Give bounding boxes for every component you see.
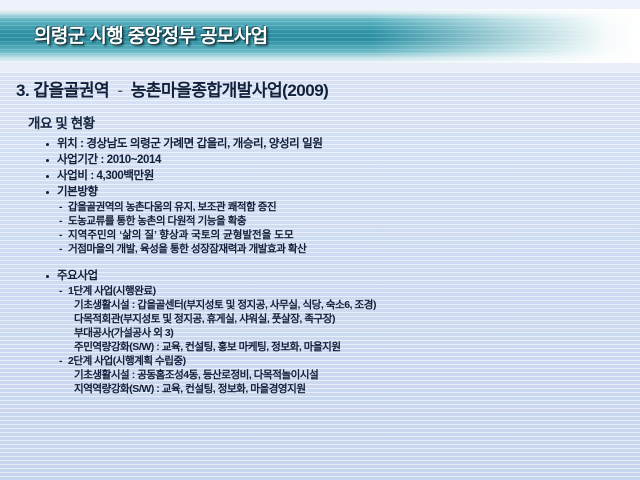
banner-title: 의령군 시행 중앙정부 공모사업 [34,21,267,48]
presentation-slide: 의령군 시행 중앙정부 공모사업 3. 갑을골권역 - 농촌마을종합개발사업(2… [0,0,640,480]
bullet-budget: 사업비 : 4,300백만원 [44,168,624,184]
phase1-item-4: 주민역량강화(S/W) : 교육, 컨설팅, 홍보 마케팅, 정보화, 마을지원 [44,340,624,354]
bullet-period: 사업기간 : 2010~2014 [44,152,624,168]
slide-banner: 의령군 시행 중앙정부 공모사업 [0,0,640,72]
section-dash: - [113,81,126,100]
direction-item-3: 지역주민의 ‘삶의 질’ 향상과 국토의 균형발전을 도모 [44,228,624,242]
phase1-item-3: 부대공사(가설공사 외 3) [44,326,624,340]
bullet-main-projects: 주요사업 [44,268,624,284]
section-title-left: 갑을골권역 [33,81,109,100]
slide-body: 위치 : 경상남도 의령군 가례면 갑을리, 개승리, 양성리 일원 사업기간 … [44,136,624,396]
page-title: 3. 갑을골권역 - 농촌마을종합개발사업(2009) [16,76,328,101]
bullet-location: 위치 : 경상남도 의령군 가례면 갑을리, 개승리, 양성리 일원 [44,136,624,152]
subsection-title: 개요 및 현황 [28,112,95,132]
section-number: 3. [16,81,29,100]
direction-item-1: 갑을골권역의 농촌다움의 유지, 보조관 쾌적함 증진 [44,200,624,214]
section-title-right: 농촌마을종합개발사업(2009) [131,81,329,100]
bullet-basic-direction: 기본방향 [44,184,624,200]
phase1-item-2: 다목적회관(부지성토 및 정지공, 휴게실, 샤워실, 풋살장, 족구장) [44,312,624,326]
phase1-item-1: 기초생활시설 : 갑을골센터(부지성토 및 정지공, 사무실, 식당, 숙소6,… [44,298,624,312]
phase2-item-1: 기초생활시설 : 공동홈조성4동, 등산로정비, 다목적놀이시설 [44,368,624,382]
direction-item-4: 거점마을의 개발, 육성을 통한 성장잠재력과 개발효과 확산 [44,242,624,256]
phase2-item-2: 지역역량강화(S/W) : 교육, 컨설팅, 정보화, 마을경영지원 [44,382,624,396]
direction-item-2: 도농교류를 통한 농촌의 다원적 기능을 확충 [44,214,624,228]
main-projects-block: 주요사업 1단계 사업(시행완료) 기초생활시설 : 갑을골센터(부지성토 및 … [44,268,624,396]
block-spacer [44,256,624,268]
phase2-title: 2단계 사업(시행계획 수립중) [44,354,624,368]
phase1-title: 1단계 사업(시행완료) [44,284,624,298]
overview-block: 위치 : 경상남도 의령군 가례면 갑을리, 개승리, 양성리 일원 사업기간 … [44,136,624,256]
